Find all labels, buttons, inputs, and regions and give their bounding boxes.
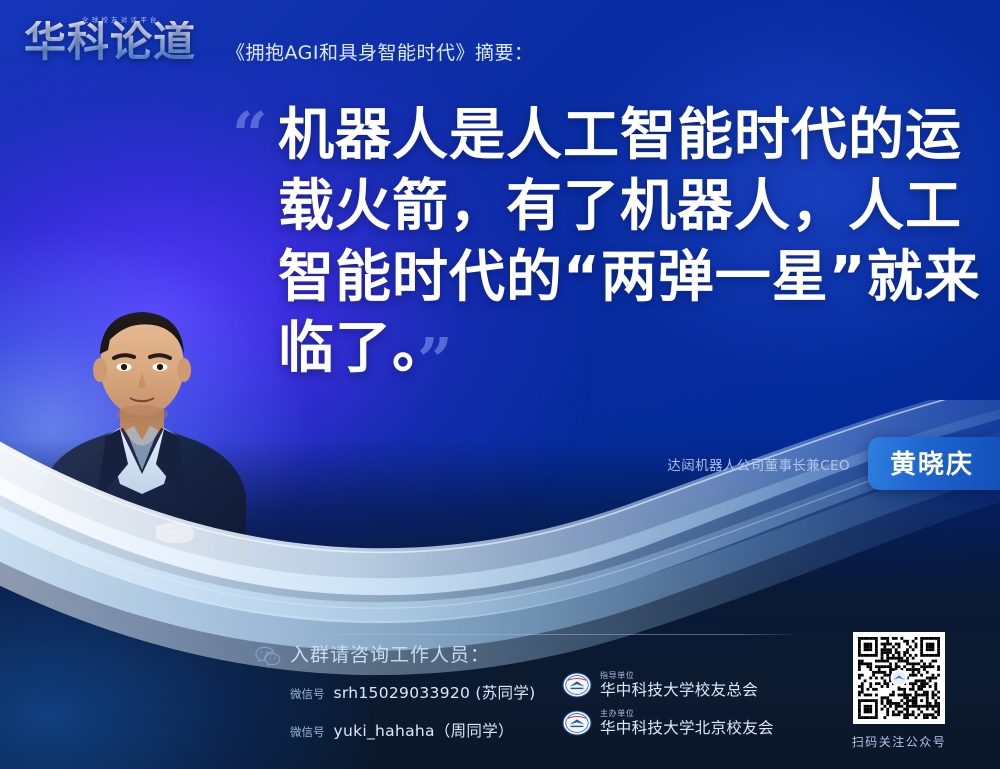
organization-kind: 指导单位 [600,672,758,680]
quote-line: 临了。 [278,313,948,384]
contact-value: srh15029033920 (苏同学) [334,681,536,703]
organization-row: 主办单位 华中科技大学北京校友会 [562,710,774,737]
brand-logo[interactable]: 全球校友对话平台 华科论道 [24,12,214,68]
hust-seal-icon [562,672,592,698]
quote-close-mark: ” [417,330,449,392]
qr-block[interactable]: 扫码关注公众号 [843,632,955,750]
quote-line: 载火箭，有了机器人，人工 [278,171,948,242]
quote-line: 智能时代的“两弹一星”就来 [278,242,948,313]
quote-open-mark: “ [232,104,264,166]
quote-text: 机器人是人工智能时代的运 载火箭，有了机器人，人工 智能时代的“两弹一星”就来 … [278,100,948,384]
contact-label: 微信号 [290,686,325,702]
header: 全球校友对话平台 华科论道 《拥抱AGI和具身智能时代》摘要： [0,0,1000,90]
contact-row: 微信号 yuki_hahaha（周同学） [290,719,514,741]
contact-row: 微信号 srh15029033920 (苏同学) [290,681,536,703]
page-title: 《拥抱AGI和具身智能时代》摘要： [226,38,534,65]
qr-caption: 扫码关注公众号 [843,733,955,750]
organization-row: 指导单位 华中科技大学校友总会 [562,672,758,699]
brand-name: 华科论道 [24,21,196,63]
qr-code-icon[interactable] [853,632,945,724]
wechat-icon [255,646,281,668]
organization-kind: 主办单位 [600,710,774,718]
quote-line: 机器人是人工智能时代的运 [278,100,948,171]
organization-name: 华中科技大学校友总会 [600,683,758,699]
poster-root: 全球校友对话平台 华科论道 《拥抱AGI和具身智能时代》摘要： “ 机器人是人工… [0,0,1000,769]
organization-name: 华中科技大学北京校友会 [600,721,774,737]
footer-heading: 入群请咨询工作人员： [290,640,490,667]
contact-value: yuki_hahaha（周同学） [334,719,514,741]
footer-divider [288,634,800,635]
hust-seal-icon [562,710,592,736]
organization-texts: 指导单位 华中科技大学校友总会 [600,672,758,699]
speaker-role: 达闼机器人公司董事长兼CEO [667,454,850,474]
speaker-name-badge: 黄晓庆 [868,437,1000,490]
contact-label: 微信号 [290,724,325,740]
attribution: 达闼机器人公司董事长兼CEO 黄晓庆 [667,437,1000,490]
organization-texts: 主办单位 华中科技大学北京校友会 [600,710,774,737]
